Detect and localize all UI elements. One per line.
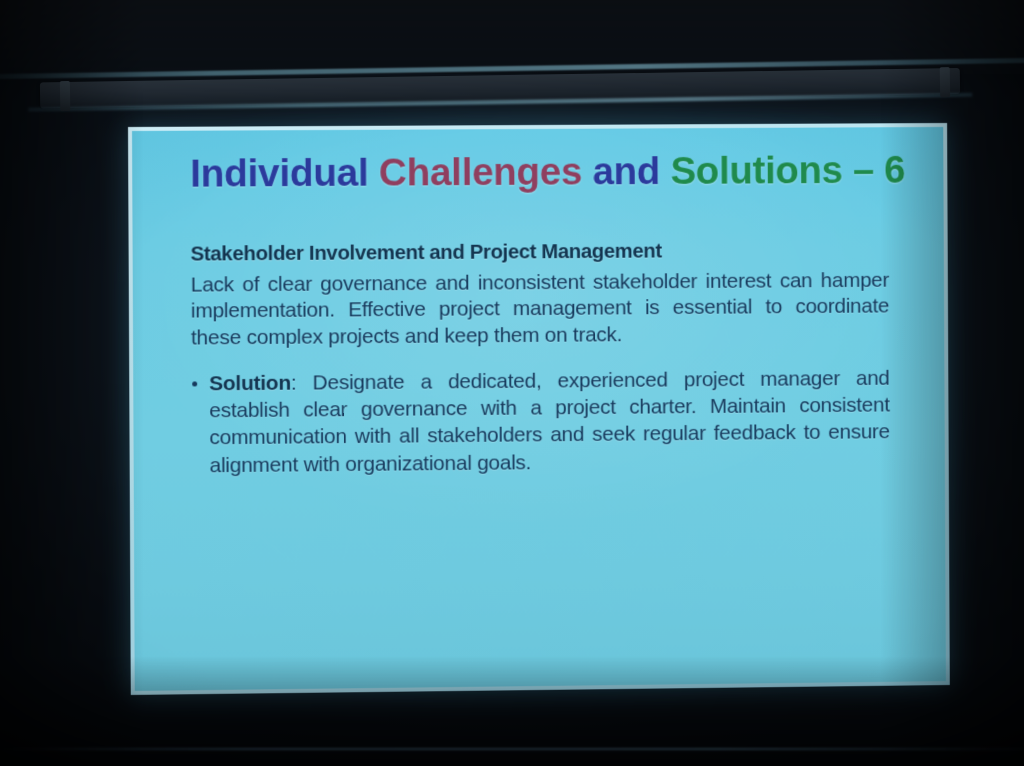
slide-paragraph: Lack of clear governance and inconsisten…: [191, 268, 890, 353]
slide-canvas: Individual Challenges and Solutions – 6 …: [132, 127, 946, 691]
projection-scene: Individual Challenges and Solutions – 6 …: [0, 0, 1024, 766]
title-word-solutions: Solutions – 6: [670, 149, 905, 193]
list-item: Solution: Designate a dedicated, experie…: [191, 365, 890, 480]
title-word-challenges: Challenges: [379, 151, 593, 195]
title-word-individual: Individual: [190, 152, 379, 196]
slide-title: Individual Challenges and Solutions – 6: [190, 143, 889, 196]
slide-subheading: Stakeholder Involvement and Project Mana…: [190, 238, 888, 266]
title-word-and: and: [592, 150, 670, 193]
slide-bullet-list: Solution: Designate a dedicated, experie…: [191, 365, 890, 480]
bullet-lead-label: Solution: [209, 371, 291, 395]
projected-slide: Individual Challenges and Solutions – 6 …: [128, 123, 950, 695]
slide-body: Stakeholder Involvement and Project Mana…: [190, 238, 890, 479]
roller-bracket-left: [60, 81, 70, 111]
roller-bracket-right: [940, 67, 950, 97]
bullet-separator: :: [291, 371, 313, 394]
slide-border: Individual Challenges and Solutions – 6 …: [128, 123, 950, 695]
bullet-dot-icon: [192, 381, 197, 386]
wall-floor-seam: [0, 748, 1024, 750]
